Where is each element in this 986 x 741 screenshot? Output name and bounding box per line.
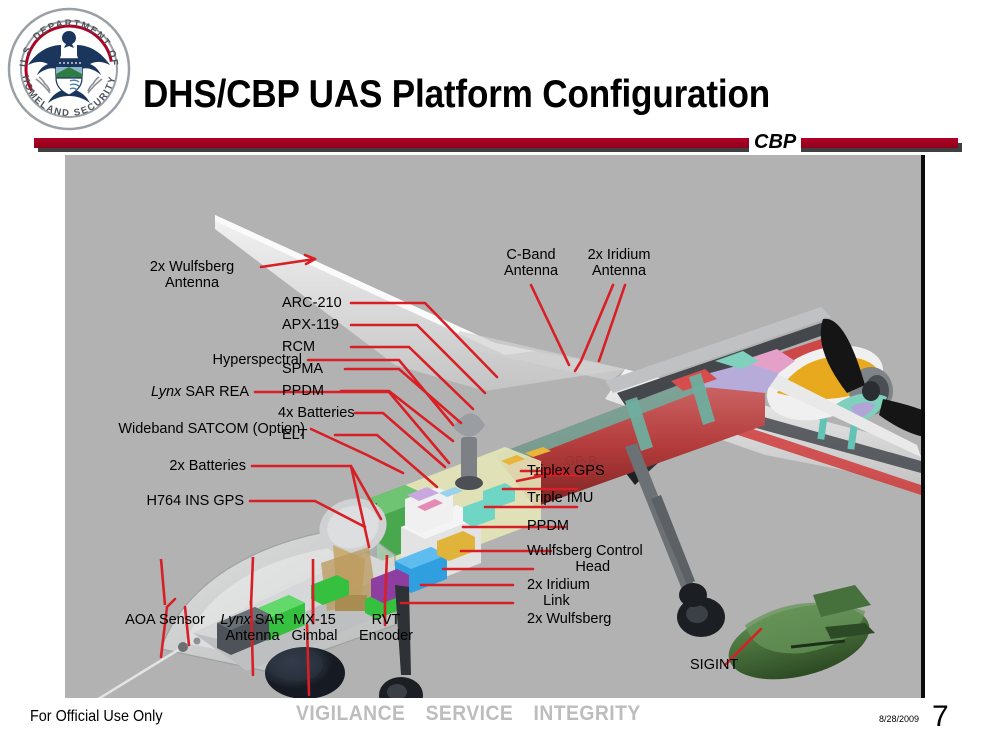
- callout-ppdm-right: PPDM: [527, 518, 569, 534]
- page-number: 7: [932, 700, 949, 734]
- slide-canvas: U.S. DEPARTMENT OF HOMELAND SECURITY DHS…: [0, 0, 986, 741]
- callout-2x-batteries: 2x Batteries: [65, 458, 246, 474]
- callout-elt: ELT: [282, 427, 308, 443]
- motto-integrity: INTEGRITY: [534, 702, 641, 725]
- callout-arc-210: ARC-210: [282, 295, 342, 311]
- callout-2x-iridium-link: 2x Iridium Link: [527, 577, 590, 609]
- callout-triple-imu: Triple IMU: [527, 490, 593, 506]
- callout-rcm: RCM: [282, 339, 315, 355]
- callout-spma: SPMA: [282, 361, 323, 377]
- callout-2x-wulfsberg-antenna: 2x Wulfsberg Antenna: [127, 259, 257, 291]
- cbp-banner-label: CBP: [749, 132, 801, 152]
- uas-configuration-diagram: GP-B: [65, 155, 925, 698]
- callout-2x-iridium-antenna: 2x Iridium Antenna: [557, 247, 681, 279]
- slide-date: 8/28/2009: [879, 714, 919, 724]
- callout-apx-119: APX-119: [282, 317, 339, 333]
- callout-wideband-satcom: Wideband SATCOM (Option): [65, 421, 305, 437]
- page-title: DHS/CBP UAS Platform Configuration: [143, 73, 770, 117]
- dhs-seal: U.S. DEPARTMENT OF HOMELAND SECURITY: [6, 5, 132, 133]
- callout-2x-wulfsberg: 2x Wulfsberg: [527, 611, 611, 627]
- callout-h764-ins-gps: H764 INS GPS: [65, 493, 244, 509]
- motto-vigilance: VIGILANCE: [296, 702, 405, 725]
- callout-4x-batteries: 4x Batteries: [278, 405, 355, 421]
- callout-triplex-gps: Triplex GPS: [527, 463, 605, 479]
- classification-marking: For Official Use Only: [30, 708, 163, 726]
- title-divider-bar: CBP: [34, 138, 962, 154]
- callout-lynx-sar-rea: Lynx SAR REA: [65, 384, 249, 400]
- callout-wulfsberg-control-head: Wulfsberg Control Head: [527, 543, 643, 575]
- callout-hyperspectral: Hyperspectral: [65, 352, 302, 368]
- motto-service: SERVICE: [426, 702, 514, 725]
- agency-motto: VIGILANCESERVICEINTEGRITY: [296, 702, 661, 726]
- callout-rvt-encoder: RVT Encoder: [332, 612, 440, 644]
- callout-ppdm-left: PPDM: [282, 383, 324, 399]
- callout-sigint: SIGINT: [690, 657, 738, 673]
- mx15-gimbal: [265, 647, 345, 698]
- divider-red: [34, 138, 958, 148]
